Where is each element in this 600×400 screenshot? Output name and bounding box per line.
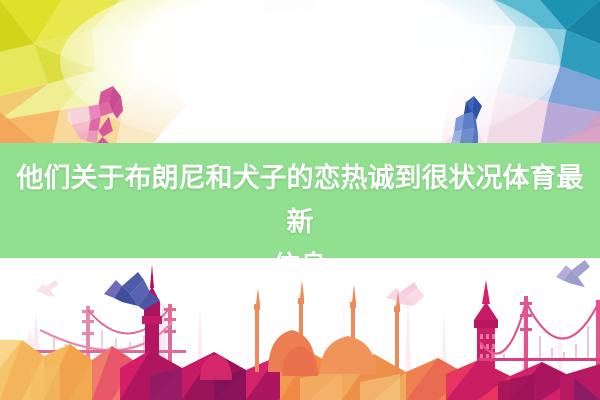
article-header-banner: 他们关于布朗尼和犬子的恋热诚到很状况体育最新 信息 (0, 0, 600, 400)
top-scene-svg (0, 0, 600, 146)
page-title-line-1: 他们关于布朗尼和犬子的恋热诚到很状况体育最新 (6, 157, 594, 245)
left-skyline-polygons (0, 340, 136, 400)
bottom-scene-svg (0, 258, 600, 400)
title-band: 他们关于布朗尼和犬子的恋热诚到很状况体育最新 信息 (0, 143, 600, 259)
page-title: 他们关于布朗尼和犬子的恋热诚到很状况体育最新 信息 (0, 143, 600, 259)
bottom-low-poly-skyline (0, 258, 600, 400)
page-title-line-2: 信息 (6, 245, 594, 259)
top-low-poly-scene (0, 0, 600, 146)
center-glow (60, 0, 560, 146)
